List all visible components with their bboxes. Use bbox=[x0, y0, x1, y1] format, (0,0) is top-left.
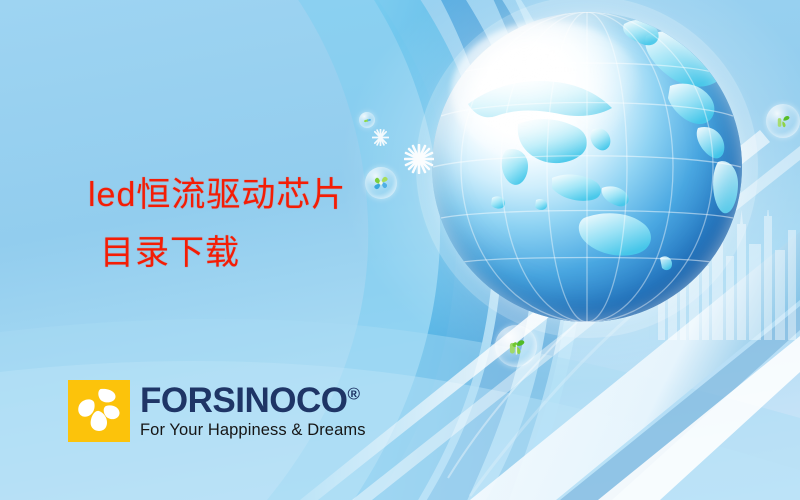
eco-bubble-edge-right bbox=[766, 104, 800, 138]
eco-bubble-pinwheel bbox=[365, 167, 397, 199]
logo-text-block: FORSINOCO® For Your Happiness & Dreams bbox=[140, 383, 366, 440]
logo-tagline: For Your Happiness & Dreams bbox=[140, 420, 366, 440]
eco-bubble-leaf bbox=[495, 325, 537, 367]
forsinoco-logo[interactable]: FORSINOCO® For Your Happiness & Dreams bbox=[68, 380, 366, 442]
forsinoco-flower-mark bbox=[68, 380, 130, 442]
headline-line-2: 目录下载 bbox=[88, 224, 346, 282]
flower-petals-icon bbox=[68, 380, 130, 442]
globe-rim-light bbox=[432, 12, 742, 322]
sparkle-burst-small bbox=[372, 129, 389, 146]
logo-wordmark-text: FORSINOCO bbox=[140, 381, 347, 420]
headline-latin: led bbox=[88, 176, 136, 214]
promo-banner: led恒流驱动芯片 目录下载 FORSINOCO® For Your Happi… bbox=[0, 0, 800, 500]
pinwheel-icon bbox=[363, 116, 372, 125]
logo-wordmark: FORSINOCO® bbox=[140, 383, 366, 419]
eco-bubble-small-top bbox=[359, 112, 375, 128]
leaf-sprout-icon bbox=[504, 334, 528, 358]
pinwheel-icon bbox=[372, 174, 390, 192]
blue-earth-globe bbox=[432, 12, 742, 322]
headline-cjk: 恒流驱动芯片 bbox=[136, 175, 346, 215]
registered-trademark-icon: ® bbox=[347, 384, 359, 403]
headline-text: led恒流驱动芯片 目录下载 bbox=[88, 166, 346, 282]
leaf-sprout-icon bbox=[773, 111, 792, 130]
headline-line-1: led恒流驱动芯片 bbox=[88, 176, 346, 214]
sparkle-burst-large bbox=[404, 144, 434, 174]
